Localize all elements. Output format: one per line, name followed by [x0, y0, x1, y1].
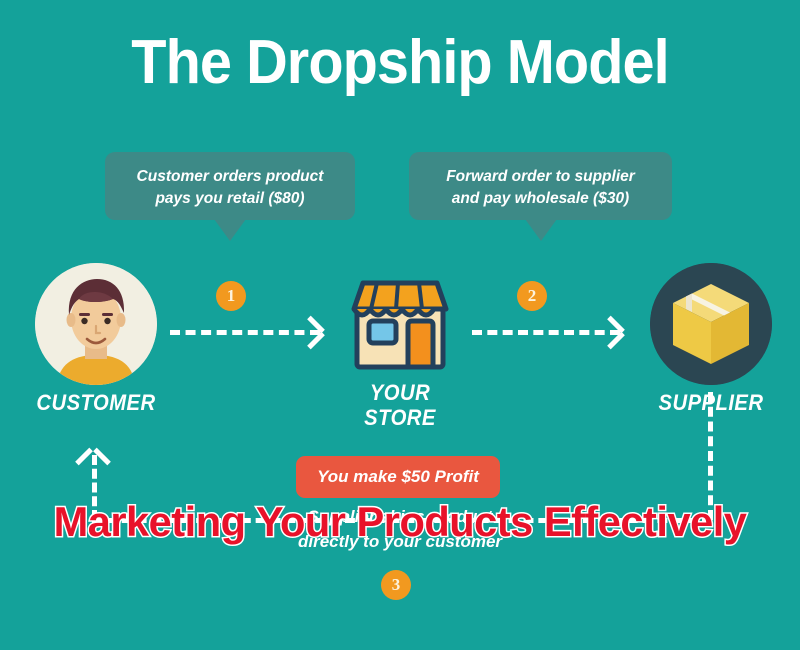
node-store-label-line-2: STORE — [280, 406, 519, 431]
profit-badge: You make $50 Profit — [296, 456, 500, 498]
speech-bubble-step-2: Forward order to supplier and pay wholes… — [409, 152, 672, 220]
node-store-label: YOUR STORE — [280, 381, 519, 430]
person-avatar-icon — [35, 263, 157, 385]
bubble-tail-icon — [525, 219, 557, 241]
node-store-label-line-1: YOUR — [280, 381, 519, 406]
bubble-2-line-2: and pay wholesale ($30) — [421, 188, 660, 210]
overlay-headline: Marketing Your Products Effectively — [4, 500, 796, 544]
node-supplier-label: SUPPLIER — [591, 391, 800, 416]
bubble-1-line-2: pays you retail ($80) — [117, 188, 343, 210]
page-title: The Dropship Model — [28, 32, 772, 94]
step-badge-2: 2 — [517, 281, 547, 311]
infographic-canvas: The Dropship Model Customer orders produ… — [0, 0, 800, 650]
bubble-2-line-1: Forward order to supplier — [421, 166, 660, 188]
speech-bubble-step-1: Customer orders product pays you retail … — [105, 152, 355, 220]
bubble-1-line-1: Customer orders product — [117, 166, 343, 188]
bubble-tail-icon — [214, 219, 246, 241]
node-supplier: SUPPLIER — [650, 263, 772, 385]
step-badge-1: 1 — [216, 281, 246, 311]
flow-arrow-store-to-supplier — [472, 330, 620, 335]
node-customer-label: CUSTOMER — [0, 391, 216, 416]
node-your-store: YOUR STORE — [340, 263, 460, 385]
package-box-icon — [650, 263, 772, 385]
storefront-icon — [340, 263, 460, 380]
step-badge-3: 3 — [381, 570, 411, 600]
node-customer: CUSTOMER — [35, 263, 157, 385]
flow-arrow-customer-to-store — [170, 330, 320, 335]
